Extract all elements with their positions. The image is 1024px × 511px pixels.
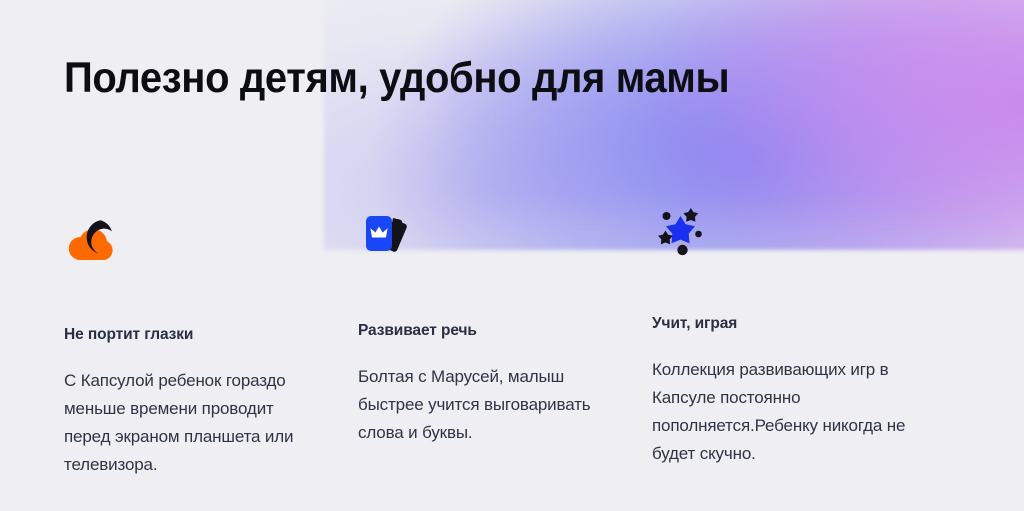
feature-text: С Капсулой ребенок гораздо меньше времен… bbox=[64, 367, 312, 479]
feature-item: Развивает речь Болтая с Марусей, малыш б… bbox=[358, 210, 606, 479]
feature-title: Учит, играя bbox=[652, 315, 912, 333]
playing-cards-crown-icon bbox=[358, 210, 416, 262]
moon-cloud-icon bbox=[64, 214, 122, 266]
gradient-decoration-overlay bbox=[444, 0, 1024, 210]
feature-list: Не портит глазки С Капсулой ребенок гора… bbox=[64, 214, 964, 479]
feature-item: Учит, играя Коллекция развивающих игр в … bbox=[652, 205, 912, 479]
feature-text: Коллекция развивающих игр в Капсуле пост… bbox=[652, 356, 912, 468]
page-root: Полезно детям, удобно для мамы Не портит… bbox=[0, 0, 1024, 511]
feature-item: Не портит глазки С Капсулой ребенок гора… bbox=[64, 214, 312, 479]
feature-title: Развивает речь bbox=[358, 322, 606, 340]
stars-sparkle-icon bbox=[652, 205, 710, 257]
page-title: Полезно детям, удобно для мамы bbox=[64, 52, 729, 104]
feature-title: Не портит глазки bbox=[64, 326, 312, 344]
feature-text: Болтая с Марусей, малыш быстрее учится в… bbox=[358, 363, 606, 447]
